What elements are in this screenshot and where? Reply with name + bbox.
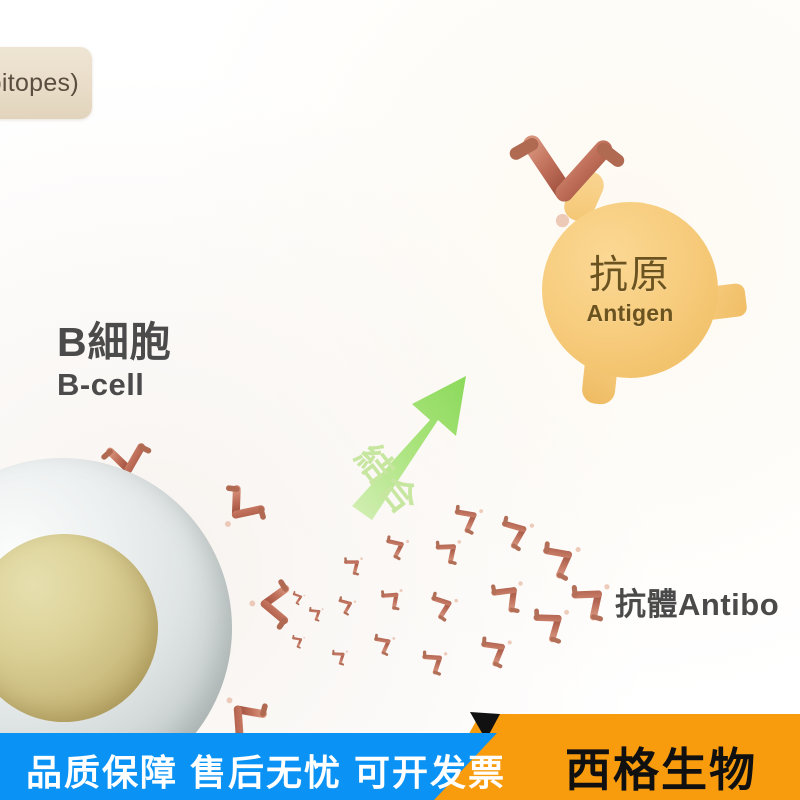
antigen-label-en: Antigen [587, 302, 674, 325]
antibody-label: 抗體Antibo [615, 579, 779, 624]
antigen-label-cn: 抗原 [589, 256, 671, 295]
banner-brand-name: 西格生物 [565, 734, 757, 800]
antigen-label: 抗原 Antigen [542, 202, 718, 378]
b-cell-label: B細胞 B-cell [57, 322, 172, 400]
epitope-callout-label: Epitopes) [0, 47, 92, 119]
diagram-canvas: 抗原 Antigen Epitopes) B細胞 B-cell 抗體Antibo… [0, 0, 800, 800]
b-cell-label-cn: B細胞 [57, 322, 172, 363]
antigen: 抗原 Antigen [520, 160, 800, 460]
banner-left-text: 品质保障 售后无忧 可开发票 [26, 744, 506, 796]
b-cell-label-en: B-cell [57, 369, 172, 400]
